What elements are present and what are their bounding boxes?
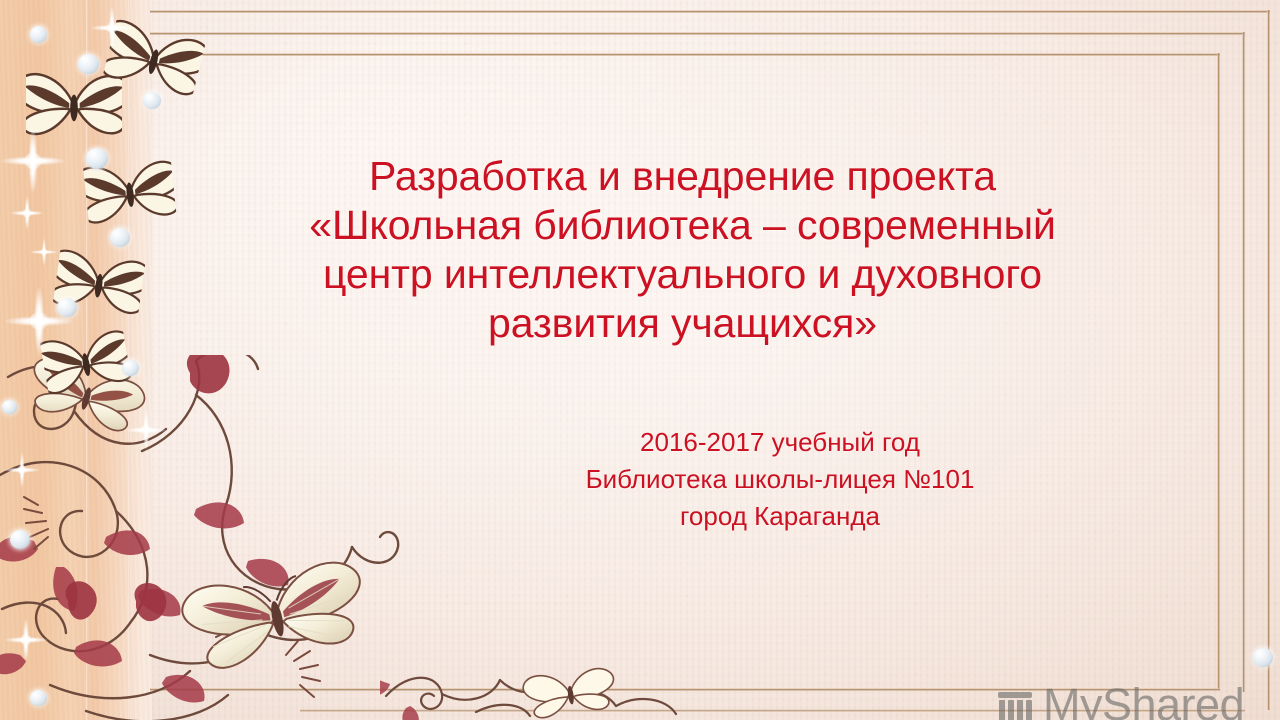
watermark-label: MyShared: [1043, 682, 1244, 720]
title-line: Разработка и внедрение проекта: [155, 152, 1210, 201]
subtitle-line-academic-year: 2016-2017 учебный год: [420, 424, 1140, 461]
slide-subtitle: 2016-2017 учебный год Библиотека школы-л…: [420, 424, 1140, 535]
title-line: центр интеллектуального и духовного: [155, 250, 1210, 299]
subtitle-line-institution: Библиотека школы-лицея №101: [420, 461, 1140, 498]
slide-text-layer: Разработка и внедрение проекта «Школьная…: [0, 0, 1280, 720]
subtitle-line-city: город Караганда: [420, 498, 1140, 535]
myshared-watermark: MyShared: [998, 682, 1244, 720]
title-line: развития учащихся»: [155, 299, 1210, 348]
slide-title: Разработка и внедрение проекта «Школьная…: [155, 152, 1210, 348]
presentation-slide: Разработка и внедрение проекта «Школьная…: [0, 0, 1280, 720]
book-icon: [998, 692, 1034, 720]
title-line: «Школьная библиотека – современный: [155, 201, 1210, 250]
